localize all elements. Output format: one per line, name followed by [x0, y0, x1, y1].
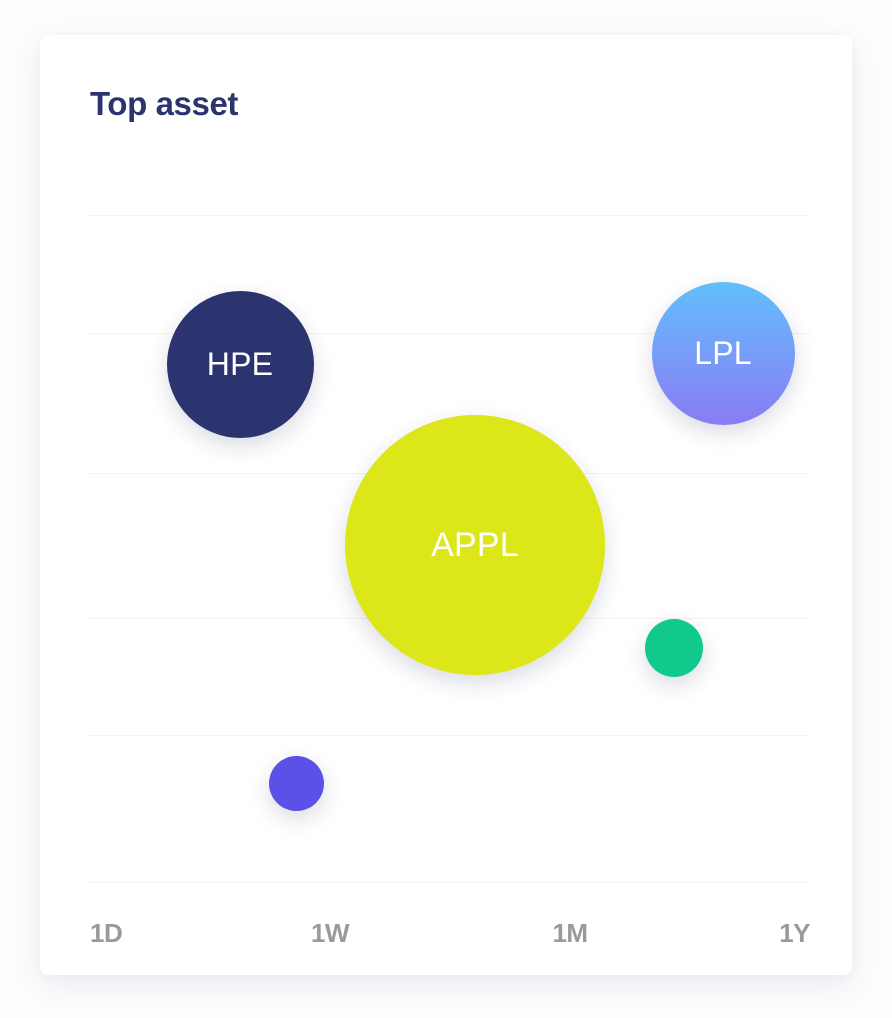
bubble-label: LPL	[694, 337, 752, 369]
gridline-4	[90, 735, 810, 736]
x-tick-1w[interactable]: 1W	[311, 920, 349, 946]
page-title: Top asset	[90, 87, 238, 120]
page-root: Top asset HPELPLAPPL 1D1W1M1Y	[0, 0, 892, 1018]
bubble-label: HPE	[207, 348, 273, 380]
bubble-lpl[interactable]: LPL	[652, 282, 795, 425]
gridline-0	[90, 215, 810, 216]
x-tick-1m[interactable]: 1M	[552, 920, 587, 946]
bubble-appl[interactable]: APPL	[345, 415, 605, 675]
bubble-point-3[interactable]	[645, 619, 703, 677]
bubble-chart-plot-area: HPELPLAPPL	[90, 145, 810, 935]
bubble-label: APPL	[431, 528, 519, 562]
bubble-point-4[interactable]	[269, 756, 324, 811]
x-tick-1d[interactable]: 1D	[90, 920, 122, 946]
top-asset-card: Top asset HPELPLAPPL 1D1W1M1Y	[40, 35, 852, 975]
x-tick-1y[interactable]: 1Y	[779, 920, 810, 946]
x-axis-ticks: 1D1W1M1Y	[90, 920, 810, 960]
gridline-5	[90, 882, 810, 883]
bubble-hpe[interactable]: HPE	[167, 291, 314, 438]
